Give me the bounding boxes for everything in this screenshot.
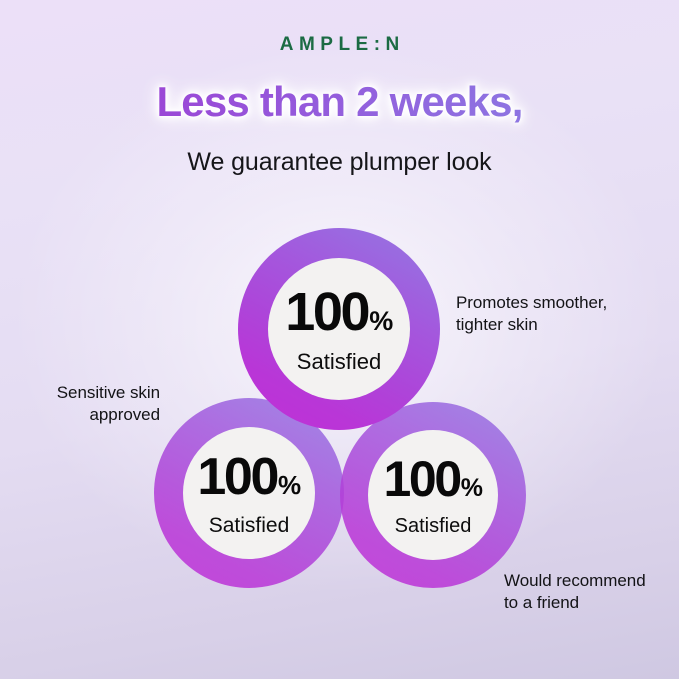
caption-promotes-smoother: Promotes smoother, tighter skin	[456, 292, 671, 337]
promo-poster: AMPLE:N Less than 2 weeks, We guarantee …	[0, 0, 679, 679]
badge-label: Satisfied	[297, 351, 381, 373]
badge-unit: %	[278, 472, 301, 498]
badge-disc: 100 % Satisfied	[183, 427, 315, 559]
badge-disc: 100 % Satisfied	[268, 258, 410, 400]
badge-value-line: 100 %	[285, 285, 392, 339]
badge-unit: %	[369, 308, 393, 335]
badge-disc: 100 % Satisfied	[368, 430, 498, 560]
badge-value-line: 100 %	[197, 451, 300, 503]
badge-value: 100	[384, 454, 460, 504]
satisfaction-badge-top: 100 % Satisfied	[238, 228, 440, 430]
badge-unit: %	[461, 476, 483, 501]
badge-label: Satisfied	[209, 515, 290, 536]
badge-value: 100	[285, 285, 368, 339]
caption-sensitive-skin-approved: Sensitive skin approved	[10, 382, 160, 427]
badge-value: 100	[197, 451, 277, 503]
satisfaction-badge-bottom-right: 100 % Satisfied	[340, 402, 526, 588]
badge-label: Satisfied	[395, 516, 472, 536]
caption-would-recommend: Would recommend to a friend	[504, 570, 674, 615]
badge-value-line: 100 %	[384, 454, 483, 504]
